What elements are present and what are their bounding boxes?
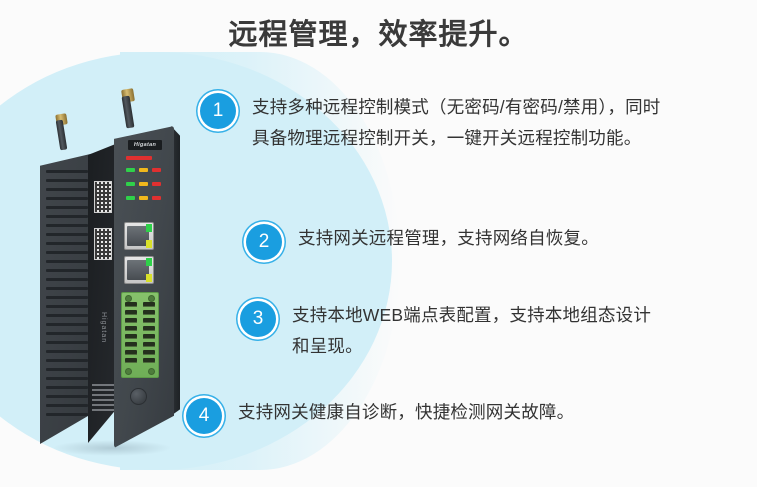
qr-code-label-1 bbox=[94, 181, 112, 213]
led-yellow-1 bbox=[139, 168, 148, 172]
ethernet-port-1-led-yellow bbox=[146, 240, 152, 248]
feature-badge-4: 4 bbox=[186, 398, 222, 434]
ethernet-port-1 bbox=[124, 222, 154, 250]
device-front-panel: Higatan bbox=[114, 126, 174, 448]
feature-item-4: 4 支持网关健康自诊断，快捷检测网关故障。 bbox=[186, 397, 678, 434]
led-green-3 bbox=[126, 196, 135, 200]
feature-text-1: 支持多种远程控制模式（无密码/有密码/禁用），同时具备物理远程控制开关，一键开关… bbox=[252, 92, 672, 154]
device-shadow bbox=[52, 440, 172, 456]
feature-badge-2: 2 bbox=[246, 224, 282, 260]
led-yellow-3 bbox=[139, 196, 148, 200]
led-power-bar bbox=[126, 156, 152, 160]
feature-badge-1: 1 bbox=[200, 93, 236, 129]
feature-badge-3: 3 bbox=[240, 301, 276, 337]
led-red-2 bbox=[152, 182, 161, 186]
page-title: 远程管理，效率提升。 bbox=[0, 11, 757, 53]
ethernet-port-2 bbox=[124, 256, 154, 284]
device-spec-text bbox=[88, 381, 118, 427]
ethernet-port-1-led-green bbox=[146, 224, 152, 232]
screw-terminal-block bbox=[121, 292, 159, 378]
feature-text-4: 支持网关健康自诊断，快捷检测网关故障。 bbox=[238, 397, 678, 428]
led-red-1 bbox=[152, 168, 161, 172]
promo-page: Higatan Higatan bbox=[0, 0, 757, 487]
qr-code-label-2 bbox=[94, 228, 112, 260]
device-side-label-strip: Higatan bbox=[88, 143, 118, 443]
reset-button-icon bbox=[130, 388, 147, 405]
led-red-3 bbox=[152, 196, 161, 200]
device-brand-label: Higatan bbox=[128, 140, 162, 150]
led-indicator-panel bbox=[124, 156, 166, 214]
led-green-2 bbox=[126, 182, 135, 186]
feature-item-3: 3 支持本地WEB端点表配置，支持本地组态设计和呈现。 bbox=[240, 300, 667, 362]
feature-item-2: 2 支持网关远程管理，支持网络自恢复。 bbox=[246, 223, 698, 260]
led-yellow-2 bbox=[139, 182, 148, 186]
feature-text-3: 支持本地WEB端点表配置，支持本地组态设计和呈现。 bbox=[292, 300, 667, 362]
feature-item-1: 1 支持多种远程控制模式（无密码/有密码/禁用），同时具备物理远程控制开关，一键… bbox=[200, 92, 672, 154]
ethernet-port-2-led-green bbox=[146, 258, 152, 266]
led-green-1 bbox=[126, 168, 135, 172]
feature-text-2: 支持网关远程管理，支持网络自恢复。 bbox=[298, 223, 698, 254]
ethernet-port-2-led-yellow bbox=[146, 274, 152, 282]
